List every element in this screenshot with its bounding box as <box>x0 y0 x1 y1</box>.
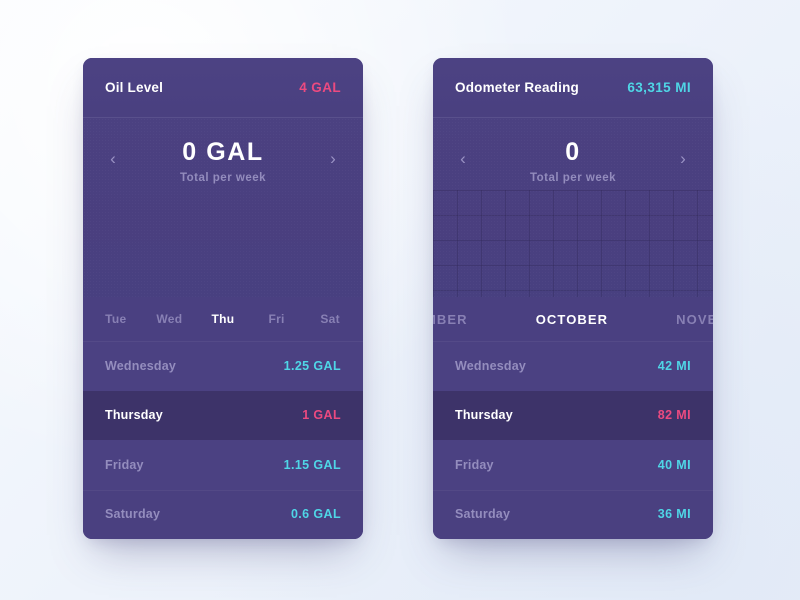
total-value: 0 <box>475 137 671 168</box>
page-title: Odometer Reading <box>455 80 579 95</box>
list-item[interactable]: Saturday 36 MI <box>433 490 713 540</box>
list-item-day: Saturday <box>105 507 160 521</box>
status-badge-oil-level: 4 GAL <box>299 80 341 95</box>
tab-month-september[interactable]: TEMBER <box>433 313 502 326</box>
tab-month-november[interactable]: NOVEMB <box>642 313 713 326</box>
tab-day-fri[interactable]: Fri <box>250 313 304 325</box>
list-odometer: Wednesday 42 MI Thursday 82 MI Friday 40… <box>433 341 713 539</box>
list-item-value: 0.6 GAL <box>291 507 341 521</box>
total-center-odometer: 0 Total per week <box>475 137 671 184</box>
chevron-right-icon[interactable]: › <box>321 141 345 175</box>
list-item-value: 82 MI <box>658 408 691 422</box>
list-item[interactable]: Saturday 0.6 GAL <box>83 490 363 540</box>
page-title: Oil Level <box>105 80 163 95</box>
app-canvas: Oil Level 4 GAL ‹ 0 GAL Total per week ›… <box>0 0 800 600</box>
tab-strip-days: Tue Wed Thu Fri Sat <box>83 297 363 341</box>
list-item-value: 1.15 GAL <box>284 458 341 472</box>
list-item-value: 36 MI <box>658 507 691 521</box>
list-item-value: 42 MI <box>658 359 691 373</box>
list-item-day: Thursday <box>455 408 513 422</box>
chevron-left-icon[interactable]: ‹ <box>451 141 475 175</box>
list-item-day: Thursday <box>105 408 163 422</box>
chevron-right-icon[interactable]: › <box>671 141 695 175</box>
chart-area-oil-level: ‹ 0 GAL Total per week › <box>83 118 363 297</box>
list-item-value: 1 GAL <box>302 408 341 422</box>
tab-day-sat[interactable]: Sat <box>303 313 357 325</box>
list-item-day: Saturday <box>455 507 510 521</box>
list-item[interactable]: Thursday 1 GAL <box>83 391 363 441</box>
total-block-odometer: ‹ 0 Total per week › <box>433 118 713 184</box>
total-value: 0 GAL <box>125 137 321 168</box>
list-item-value: 40 MI <box>658 458 691 472</box>
status-badge-odometer: 63,315 MI <box>627 80 691 95</box>
list-item[interactable]: Wednesday 42 MI <box>433 341 713 391</box>
list-item-day: Wednesday <box>105 359 176 373</box>
chart-grid <box>433 190 713 297</box>
list-item[interactable]: Friday 40 MI <box>433 440 713 490</box>
list-item[interactable]: Wednesday 1.25 GAL <box>83 341 363 391</box>
list-item-day: Friday <box>105 458 144 472</box>
list-item[interactable]: Friday 1.15 GAL <box>83 440 363 490</box>
chevron-left-icon[interactable]: ‹ <box>101 141 125 175</box>
tab-day-wed[interactable]: Wed <box>143 313 197 325</box>
list-oil-level: Wednesday 1.25 GAL Thursday 1 GAL Friday… <box>83 341 363 539</box>
chart-area-odometer: ‹ 0 Total per week › <box>433 118 713 297</box>
card-header-odometer-reading: Odometer Reading 63,315 MI <box>433 58 713 118</box>
tab-strip-months: TEMBER OCTOBER NOVEMB <box>433 297 713 341</box>
total-block-oil-level: ‹ 0 GAL Total per week › <box>83 118 363 184</box>
card-oil-level: Oil Level 4 GAL ‹ 0 GAL Total per week ›… <box>83 58 363 539</box>
total-center-oil-level: 0 GAL Total per week <box>125 137 321 184</box>
card-header-oil-level: Oil Level 4 GAL <box>83 58 363 118</box>
list-item-day: Friday <box>455 458 494 472</box>
tab-day-thu[interactable]: Thu <box>196 313 250 325</box>
card-odometer-reading: Odometer Reading 63,315 MI ‹ 0 Total per… <box>433 58 713 539</box>
total-label: Total per week <box>475 172 671 184</box>
list-item-day: Wednesday <box>455 359 526 373</box>
list-item[interactable]: Thursday 82 MI <box>433 391 713 441</box>
tab-month-october[interactable]: OCTOBER <box>502 313 642 326</box>
list-item-value: 1.25 GAL <box>284 359 341 373</box>
tab-day-tue[interactable]: Tue <box>89 313 143 325</box>
total-label: Total per week <box>125 172 321 184</box>
